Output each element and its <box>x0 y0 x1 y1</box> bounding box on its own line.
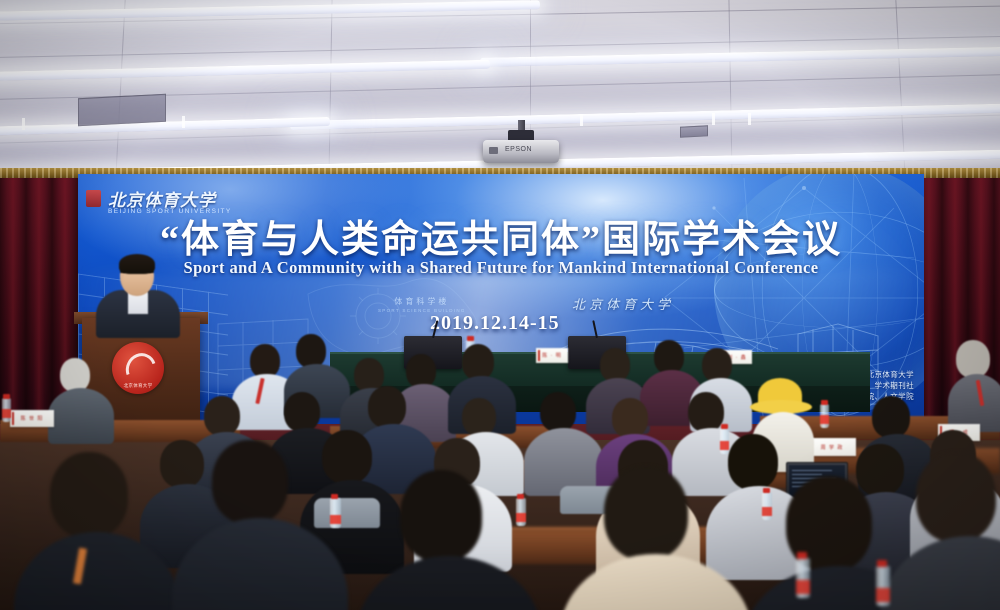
ceiling-vent <box>78 94 166 127</box>
banner-title-en: Sport and A Community with a Shared Futu… <box>78 258 924 278</box>
banner-calligraphy: 北京体育大学 <box>572 294 674 313</box>
water-bottle <box>796 558 810 598</box>
water-bottle <box>516 498 526 526</box>
name-placard: 周 学 政 <box>808 438 856 456</box>
conference-photo: EPSON <box>0 0 1000 610</box>
water-bottle <box>820 404 829 428</box>
name-placard: 陈 · 明 <box>536 348 568 363</box>
water-bottle <box>720 428 729 454</box>
ceiling: EPSON <box>0 0 1000 178</box>
podium-emblem-icon: 北京体育大学 <box>112 342 164 394</box>
projector-brand-label: EPSON <box>505 146 532 153</box>
ceiling-projector: EPSON <box>483 140 559 163</box>
logo-seal-icon <box>86 190 101 207</box>
banner-title-cn: “体育与人类命运共同体”国际学术会议 <box>78 208 924 263</box>
water-bottle <box>762 492 772 520</box>
speaker-hair <box>119 254 155 274</box>
water-bottle <box>876 566 890 606</box>
ceiling-vent <box>680 125 708 137</box>
water-bottle <box>330 498 341 528</box>
podium-emblem-text: 北京体育大学 <box>112 383 164 389</box>
name-placard: 陈 世 阳 <box>10 410 54 427</box>
building-label-cn: 体育科学楼 <box>378 296 466 307</box>
building-label: 体育科学楼 SPORT SCIENCE BUILDING <box>378 296 466 313</box>
banner-date: 2019.12.14-15 <box>430 312 560 335</box>
chair-back <box>314 498 380 528</box>
water-bottle <box>2 398 11 422</box>
